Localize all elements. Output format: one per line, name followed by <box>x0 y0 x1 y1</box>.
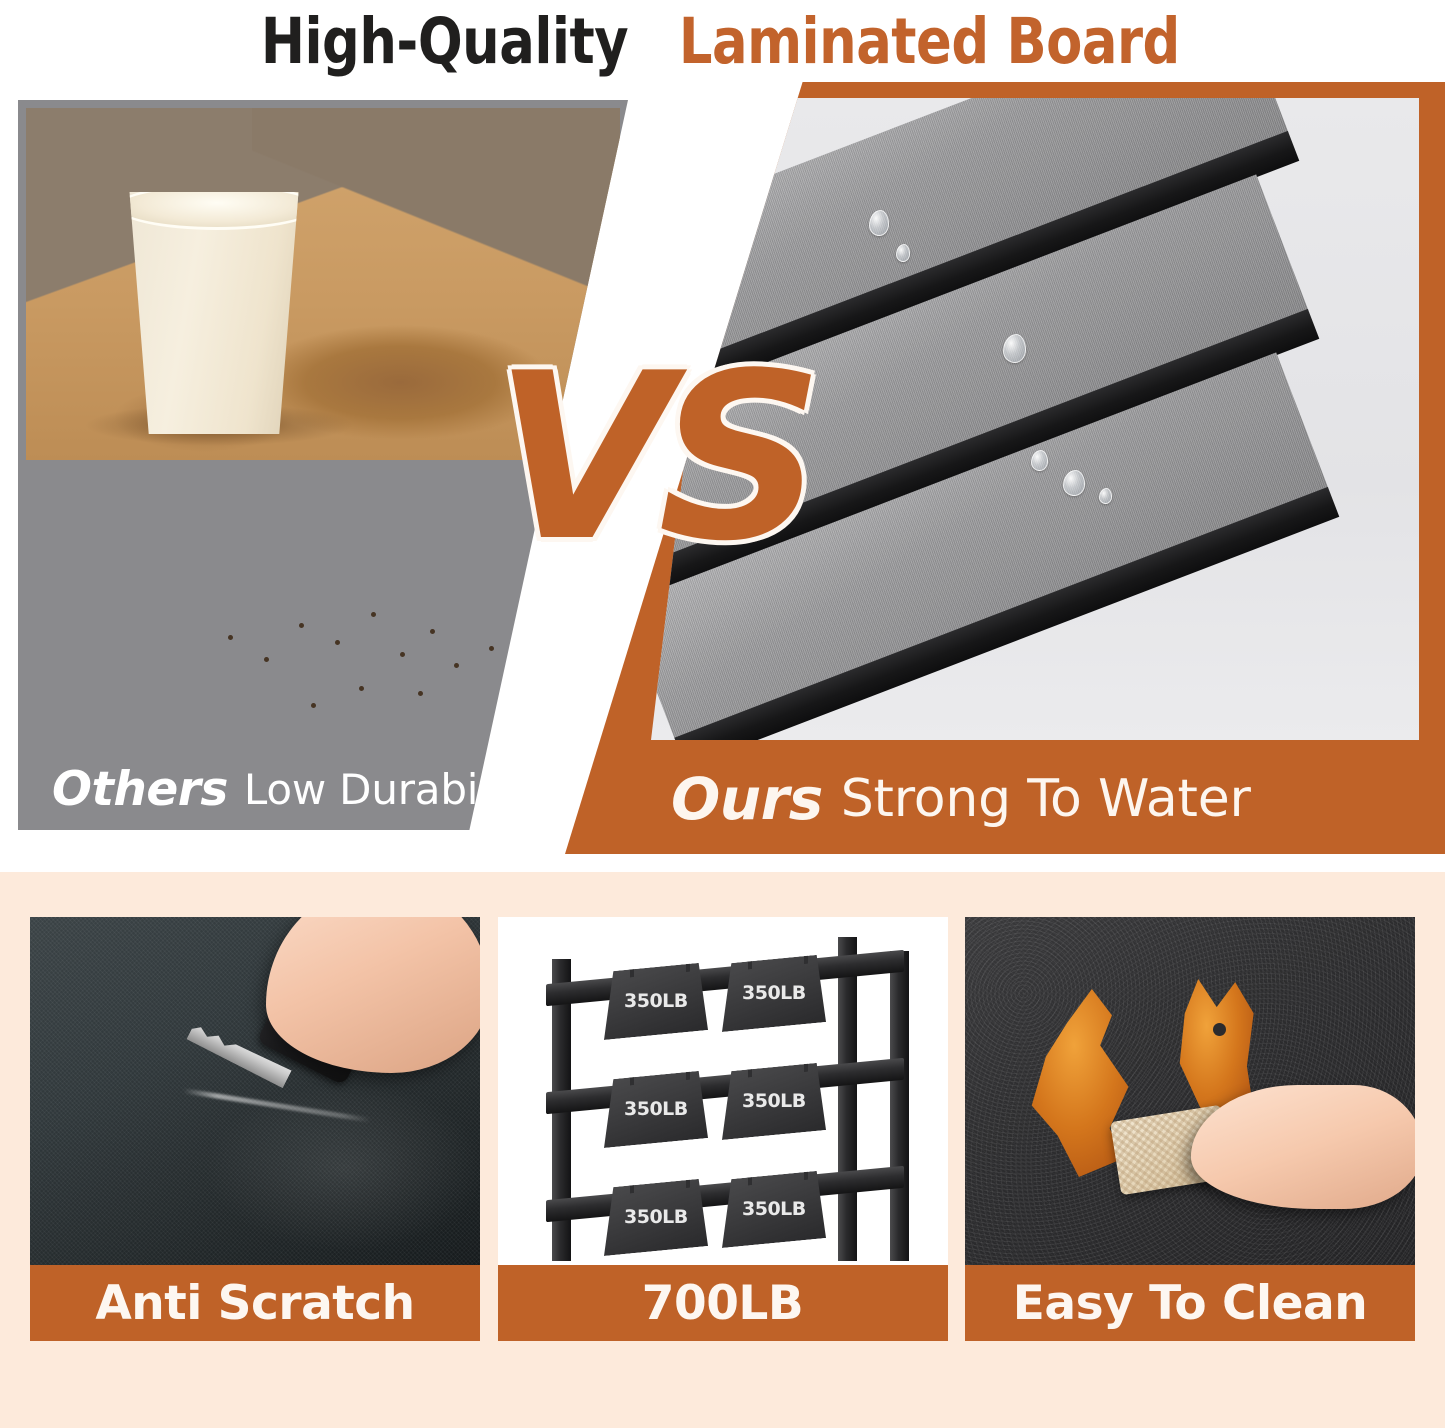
feature-card-capacity: 350LB 350LB 350LB 350LB <box>498 917 948 1386</box>
rack-post <box>838 937 857 1261</box>
wipe-spill-test-image <box>965 917 1415 1265</box>
weight-block: 350LB <box>604 1070 708 1148</box>
water-droplet-icon <box>1063 470 1085 496</box>
weight-label: 350LB <box>742 1090 806 1112</box>
hand <box>266 917 480 1073</box>
feature-label-capacity: 700LB <box>498 1265 948 1341</box>
paper-cup <box>118 192 310 434</box>
feature-card-easy-to-clean: Easy To Clean <box>965 917 1415 1386</box>
key-scratch-test-image <box>30 917 480 1265</box>
comparison-section: Ours Strong To Water <box>0 82 1445 854</box>
feature-label-easy-to-clean: Easy To Clean <box>965 1265 1415 1341</box>
others-subtitle: Low Durability <box>244 765 542 814</box>
ours-subtitle: Strong To Water <box>841 769 1251 829</box>
weight-label: 350LB <box>624 990 688 1012</box>
rack-post <box>890 951 909 1261</box>
page-title-accent: Laminated Board <box>678 10 1179 73</box>
weight-block: 350LB <box>722 954 826 1032</box>
versus-badge: VS <box>494 344 810 574</box>
weight-block: 350LB <box>604 962 708 1040</box>
weight-label: 350LB <box>624 1206 688 1228</box>
feature-strip: Anti Scratch 350LB 350LB <box>0 872 1445 1428</box>
ours-caption: Ours Strong To Water <box>565 744 1445 854</box>
weight-label: 350LB <box>624 1098 688 1120</box>
others-title: Others <box>52 762 228 817</box>
product-feature-graphic: High-Quality Laminated Board <box>0 0 1445 1428</box>
hand <box>1191 1085 1415 1209</box>
weight-block: 350LB <box>722 1062 826 1140</box>
others-caption: Others Low Durability <box>26 748 616 830</box>
weight-block: 350LB <box>604 1178 708 1256</box>
shelving-rack: 350LB 350LB 350LB 350LB <box>526 925 920 1261</box>
water-droplet-icon <box>896 244 910 262</box>
water-droplet-icon <box>1031 450 1048 471</box>
water-droplet-icon <box>869 210 889 236</box>
page-title-primary: High-Quality <box>260 10 627 73</box>
loaded-shelving-rack-image: 350LB 350LB 350LB 350LB <box>498 917 948 1265</box>
water-droplet-icon <box>1003 334 1026 363</box>
ours-title: Ours <box>671 765 823 833</box>
water-droplet-icon <box>1099 488 1112 504</box>
weight-label: 350LB <box>742 1198 806 1220</box>
feature-card-anti-scratch: Anti Scratch <box>30 917 480 1386</box>
weight-label: 350LB <box>742 982 806 1004</box>
feature-label-anti-scratch: Anti Scratch <box>30 1265 480 1341</box>
page-title: High-Quality Laminated Board <box>0 2 1445 80</box>
weight-block: 350LB <box>722 1170 826 1248</box>
